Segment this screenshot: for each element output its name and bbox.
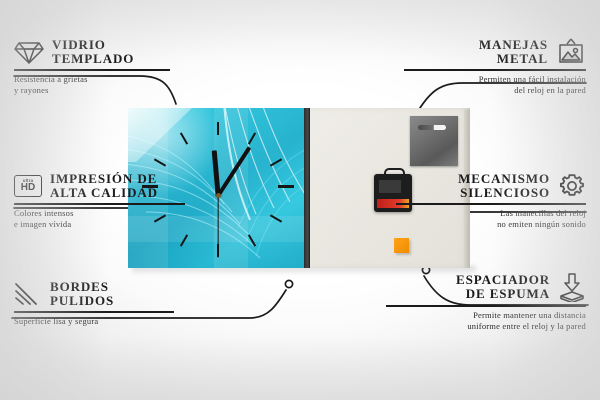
callout-title: MECANISMO SILENCIOSO bbox=[458, 172, 550, 200]
callout-title: ESPACIADOR DE ESPUMA bbox=[456, 273, 550, 301]
callout-subtitle-line1: Colores intensos bbox=[14, 208, 194, 219]
callout-bordes-pulidos: BORDES PULIDOS Superficie lisa y segura bbox=[14, 280, 184, 327]
callout-vidrio-templado: VIDRIO TEMPLADO Resistencia a grietas y … bbox=[14, 38, 184, 96]
callout-divider bbox=[386, 305, 586, 307]
callout-mecanismo-silencioso: MECANISMO SILENCIOSO Las manecillas del … bbox=[396, 172, 586, 230]
callout-header: VIDRIO TEMPLADO bbox=[14, 38, 184, 66]
callout-header: ultra HD IMPRESIÓN DE ALTA CALIDAD bbox=[14, 172, 194, 200]
tick-3 bbox=[278, 185, 294, 188]
callout-header: MANEJAS METAL bbox=[404, 38, 586, 66]
callout-title: VIDRIO TEMPLADO bbox=[52, 38, 134, 66]
wire-dot-bordes bbox=[285, 280, 292, 287]
foam-spacer bbox=[394, 238, 409, 253]
foam-spacer-icon bbox=[558, 272, 586, 302]
callout-title: MANEJAS METAL bbox=[479, 38, 548, 66]
callout-header: ESPACIADOR DE ESPUMA bbox=[386, 272, 586, 302]
tick-12 bbox=[217, 122, 219, 135]
callout-divider bbox=[396, 203, 586, 205]
callout-divider bbox=[404, 69, 586, 71]
ultra-hd-icon-main-label: HD bbox=[21, 183, 35, 193]
metal-hanger-plate bbox=[410, 116, 458, 166]
second-hand bbox=[217, 196, 218, 258]
callout-subtitle-line2: del reloj en la pared bbox=[404, 85, 586, 96]
callout-subtitle-line1: Superficie lisa y segura bbox=[14, 316, 184, 327]
callout-title: BORDES PULIDOS bbox=[50, 280, 114, 308]
callout-impresion-alta-calidad: ultra HD IMPRESIÓN DE ALTA CALIDAD Color… bbox=[14, 172, 194, 230]
polished-edges-icon bbox=[14, 282, 42, 306]
callout-title: IMPRESIÓN DE ALTA CALIDAD bbox=[50, 172, 158, 200]
callout-subtitle-line2: no emiten ningún sonido bbox=[396, 219, 586, 230]
hanging-frame-icon bbox=[556, 38, 586, 66]
diamond-icon bbox=[14, 39, 44, 65]
callout-divider bbox=[14, 69, 170, 71]
callout-subtitle-line1: Resistencia a grietas bbox=[14, 74, 184, 85]
callout-subtitle-line2: e imagen vívida bbox=[14, 219, 194, 230]
callout-subtitle-line1: Permiten una fácil instalación bbox=[404, 74, 586, 85]
callout-divider bbox=[14, 203, 185, 205]
ultra-hd-icon: ultra HD bbox=[14, 175, 42, 197]
callout-subtitle-line1: Permite mantener una distancia bbox=[386, 310, 586, 321]
callout-subtitle-line2: y rayones bbox=[14, 85, 184, 96]
infographic-root: VIDRIO TEMPLADO Resistencia a grietas y … bbox=[0, 0, 600, 400]
callout-header: BORDES PULIDOS bbox=[14, 280, 184, 308]
callout-subtitle-line1: Las manecillas del reloj bbox=[396, 208, 586, 219]
callout-subtitle-line2: uniforme entre el reloj y la pared bbox=[386, 321, 586, 332]
gear-icon bbox=[558, 172, 586, 200]
callout-divider bbox=[14, 311, 174, 313]
callout-header: MECANISMO SILENCIOSO bbox=[396, 172, 586, 200]
callout-espaciador-espuma: ESPACIADOR DE ESPUMA Permite mantener un… bbox=[386, 272, 586, 332]
clock-hands-hub bbox=[216, 193, 221, 198]
hanger-keyhole-slot bbox=[418, 125, 446, 130]
callout-manejas-metal: MANEJAS METAL Permiten una fácil instala… bbox=[404, 38, 586, 96]
